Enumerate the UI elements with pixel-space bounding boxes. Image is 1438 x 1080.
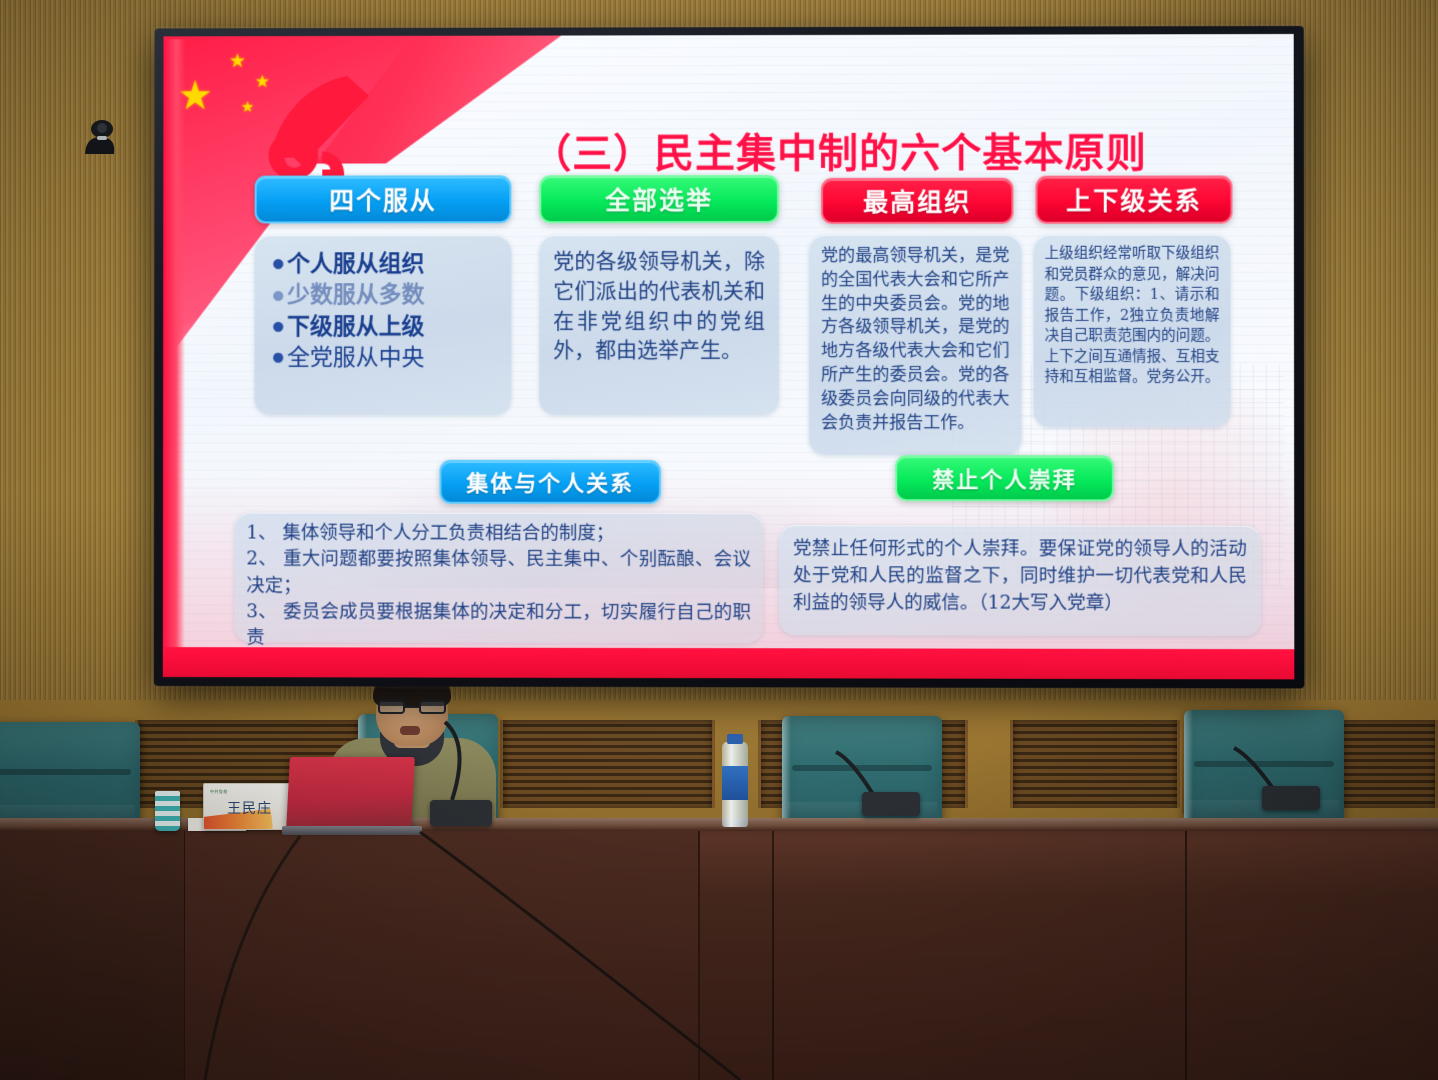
podium-seam <box>1185 831 1187 1080</box>
numbered-item: 3、 委员会成员要根据集体的决定和分工，切实履行自己的职责 <box>246 599 751 652</box>
wall-louver-vent <box>1010 720 1180 808</box>
microphone-base[interactable] <box>1262 786 1320 810</box>
nameplate-name-label: 王民庄 <box>204 798 295 818</box>
numbered-item: 1、 集体领导和个人分工负责相结合的制度； <box>246 521 751 548</box>
microphone-base[interactable] <box>862 792 920 816</box>
section-pill-highest-organ[interactable]: 最高组织 <box>821 178 1013 224</box>
conference-room-scene: 中共党校 王民庄 ★ ★ ★ ★ <box>0 0 1438 1080</box>
card-paragraph: 党禁止任何形式的个人崇拜。要保证党的领导人的活动处于党和人民的监督之下，同时维护… <box>779 525 1261 627</box>
content-card-collective-individual: 1、 集体领导和个人分工负责相结合的制度； 2、 重大问题都要按照集体领导、民主… <box>234 513 763 644</box>
card-paragraph: 党的最高领导机关，是党的全国代表大会和它所产生的中央委员会。党的地方各级领导机关… <box>809 235 1022 446</box>
person-mouth <box>400 726 420 735</box>
section-pill-level-relations[interactable]: 上下级关系 <box>1035 175 1232 223</box>
section-pill-no-personality-cult[interactable]: 禁止个人崇拜 <box>895 455 1114 501</box>
red-laptop[interactable] <box>286 757 415 830</box>
numbered-item: 2、 重大问题都要按照集体领导、民主集中、个别酝酿、会议决定； <box>246 547 751 600</box>
speaker-nameplate: 中共党校 王民庄 <box>203 783 296 830</box>
bullet-item: 个人服从组织 <box>272 249 511 280</box>
content-card-all-elections: 党的各级领导机关，除它们派出的代表机关和在非党组织中的党组外，都由选举产生。 <box>539 235 779 415</box>
section-pill-all-elections[interactable]: 全部选举 <box>539 175 779 223</box>
slide-bottom-red-band <box>163 647 1295 679</box>
microphone-base[interactable] <box>430 800 492 826</box>
card-paragraph: 党的各级领导机关，除它们派出的代表机关和在非党组织中的党组外，都由选举产生。 <box>539 235 779 378</box>
slide-left-red-band <box>163 39 186 677</box>
bullet-item: 全党服从中央 <box>272 343 511 374</box>
wall-louver-vent <box>500 720 715 808</box>
section-pill-four-obediences[interactable]: 四个服从 <box>255 175 512 223</box>
podium-front-panel <box>185 831 700 1080</box>
nameplate-org-label: 中共党校 <box>210 789 228 795</box>
wall-speaker-icon <box>80 116 126 162</box>
glasses-icon <box>378 700 446 714</box>
party-hammer-sickle-icon <box>249 70 378 188</box>
section-pill-collective-individual[interactable]: 集体与个人关系 <box>439 460 661 504</box>
card-paragraph: 上级组织经常听取下级组织和党员群众的意见，解决问题。下级组织：1、请示和报告工作… <box>1034 235 1231 398</box>
content-card-no-personality-cult: 党禁止任何形式的个人崇拜。要保证党的领导人的活动处于党和人民的监督之下，同时维护… <box>779 525 1261 636</box>
bullet-item: 下级服从上级 <box>272 312 511 343</box>
water-bottle[interactable] <box>722 742 748 827</box>
presentation-slide: ★ ★ ★ ★ （三）民主集中制的六个基本原则 四个服从 全部选举 <box>163 34 1295 679</box>
conference-chair[interactable] <box>1184 710 1344 832</box>
podium-left-step <box>0 831 186 1080</box>
content-card-highest-organ: 党的最高领导机关，是党的全国代表大会和它所产生的中央委员会。党的地方各级领导机关… <box>809 235 1022 455</box>
flag-star-small: ★ <box>229 52 246 71</box>
podium-seam <box>772 831 774 1080</box>
laptop-base[interactable] <box>282 826 422 835</box>
bullet-item: 少数服从多数 <box>272 280 511 311</box>
projection-screen: ★ ★ ★ ★ （三）民主集中制的六个基本原则 四个服从 全部选举 <box>154 26 1305 688</box>
content-card-level-relations: 上级组织经常听取下级组织和党员群众的意见，解决问题。下级组织：1、请示和报告工作… <box>1034 235 1231 428</box>
slide-title: （三）民主集中制的六个基本原则 <box>531 120 1212 179</box>
paper-cup[interactable] <box>155 791 180 831</box>
content-card-four-obediences: 个人服从组织 少数服从多数 下级服从上级 全党服从中央 <box>254 235 511 415</box>
podium-desk <box>0 818 1438 1080</box>
